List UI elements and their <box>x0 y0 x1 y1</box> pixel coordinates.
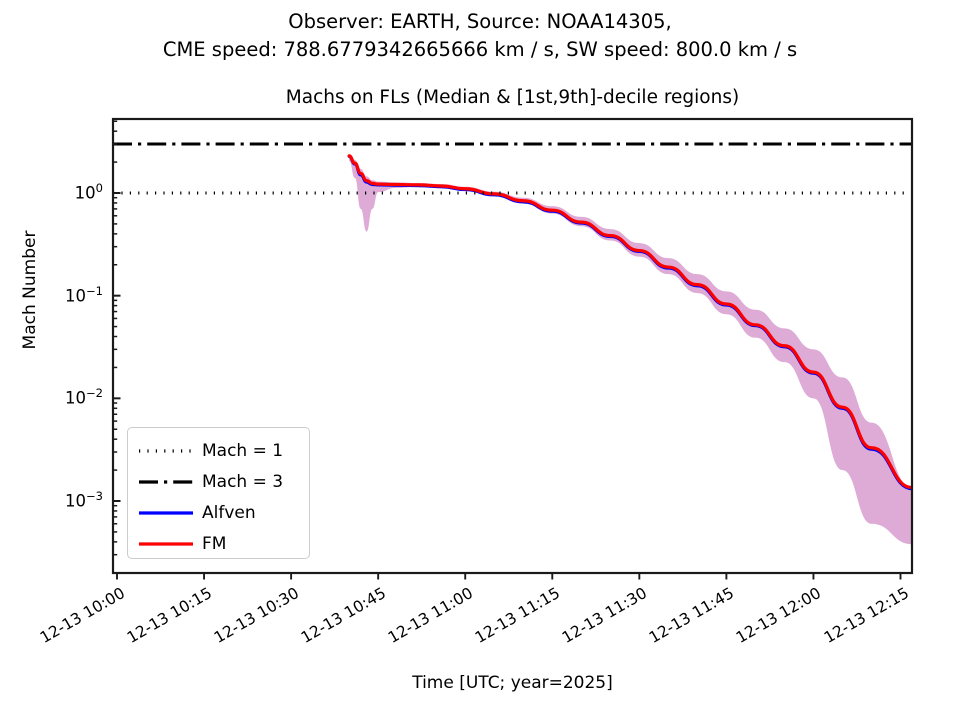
y-tick-label: 100 <box>40 184 103 203</box>
y-tick-label: 10−2 <box>40 389 103 408</box>
legend-label: FM <box>202 534 226 554</box>
legend-label: Alfven <box>202 503 256 523</box>
legend-swatch-mach-1 <box>138 441 194 461</box>
legend: Mach = 1Mach = 3AlfvenFM <box>127 427 310 559</box>
legend-item: Alfven <box>128 496 311 529</box>
legend-item: FM <box>128 527 311 560</box>
legend-swatch-mach-3 <box>138 472 194 492</box>
legend-swatch-alfven <box>138 503 194 523</box>
legend-label: Mach = 3 <box>202 472 283 492</box>
legend-item: Mach = 1 <box>128 434 311 467</box>
y-tick-label: 10−1 <box>40 286 103 305</box>
y-tick-label: 10−3 <box>40 492 103 511</box>
plot-canvas <box>0 0 960 720</box>
legend-item: Mach = 3 <box>128 465 311 498</box>
legend-swatch-fm <box>138 534 194 554</box>
matplotlib-figure: Observer: EARTH, Source: NOAA14305, CME … <box>0 0 960 720</box>
legend-label: Mach = 1 <box>202 441 283 461</box>
